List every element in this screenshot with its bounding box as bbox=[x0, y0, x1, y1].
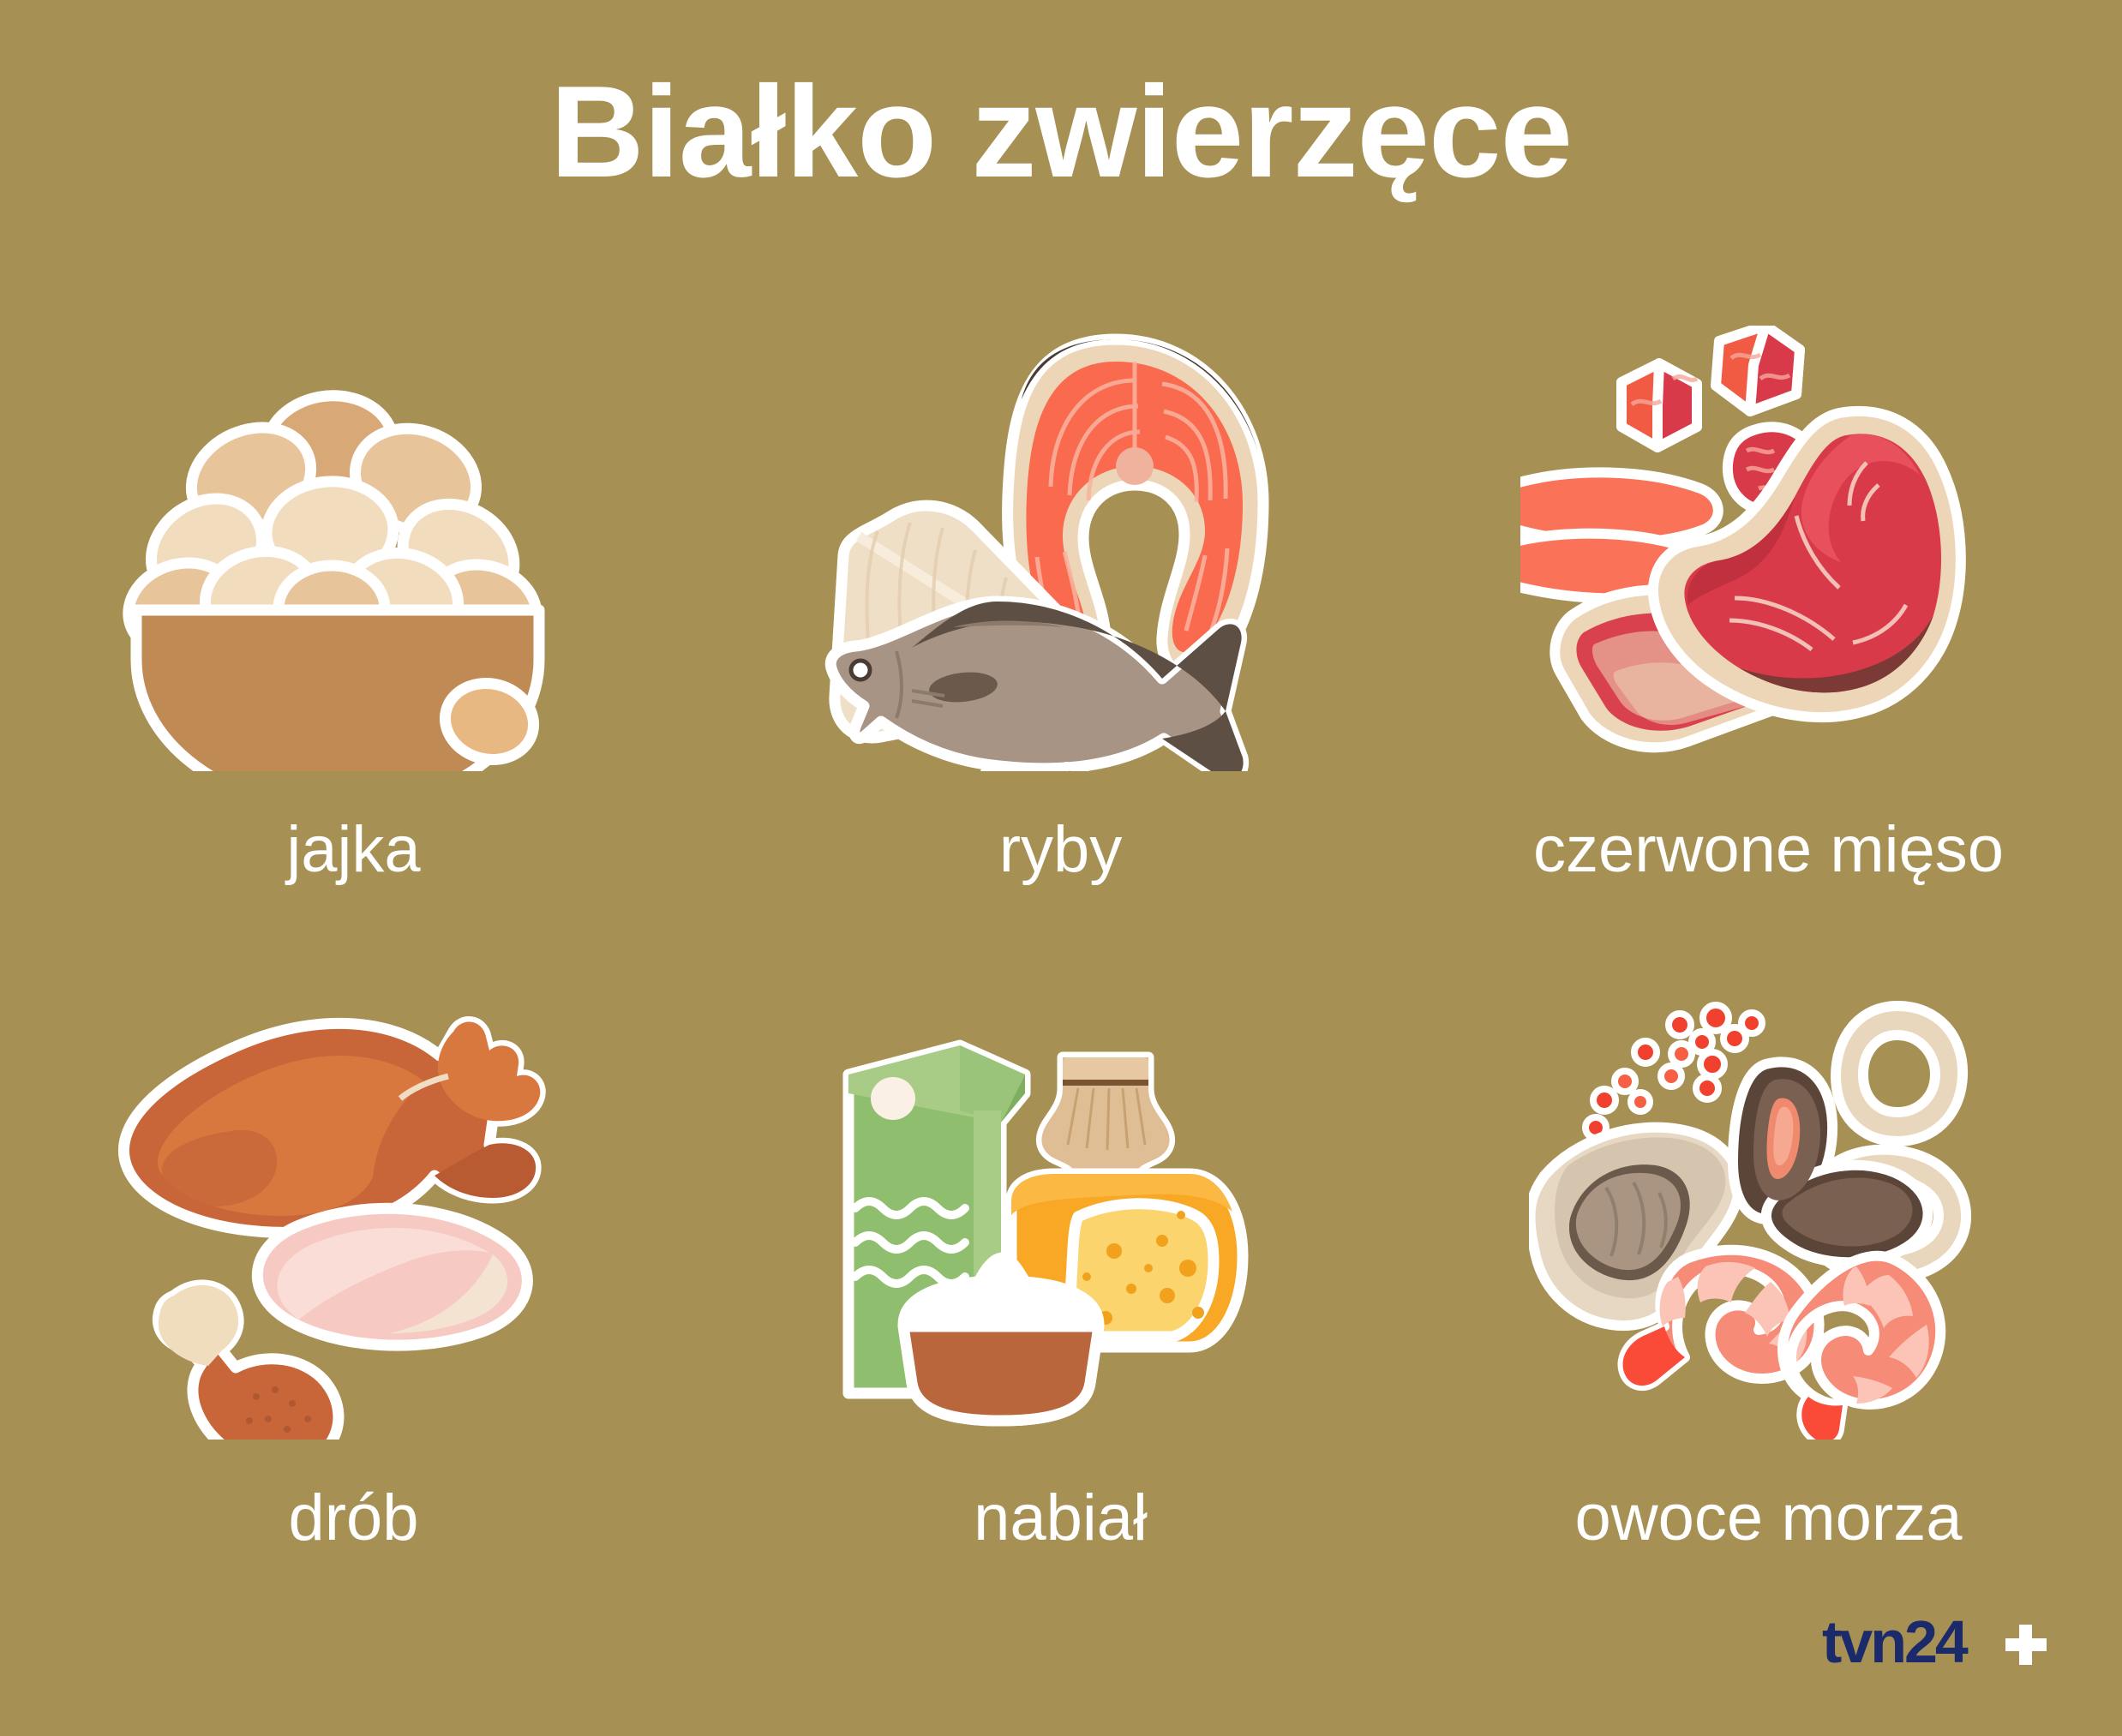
category-card-eggs[interactable]: jajka bbox=[0, 283, 707, 951]
logo-plus-icon bbox=[2005, 1625, 2047, 1665]
seafood-shrimp-mussel-icon bbox=[1415, 951, 2122, 1482]
category-card-seafood[interactable]: owoce morza bbox=[1415, 951, 2122, 1619]
category-card-dairy[interactable]: nabiał bbox=[707, 951, 1414, 1619]
tvn24-plus-logo[interactable]: tvn24 bbox=[1822, 1606, 2055, 1678]
fish-and-salmon-steak-icon bbox=[707, 283, 1414, 814]
roast-chicken-icon bbox=[0, 951, 707, 1482]
eggs-in-bowl-icon bbox=[0, 283, 707, 814]
category-card-poultry[interactable]: drób bbox=[0, 951, 707, 1619]
category-label-seafood: owoce morza bbox=[1415, 1482, 2122, 1554]
milk-cheese-dairy-icon bbox=[707, 951, 1414, 1482]
category-label-fish: ryby bbox=[707, 814, 1414, 886]
page-title: Białko zwierzęce bbox=[0, 67, 2122, 197]
red-meat-steak-icon bbox=[1415, 283, 2122, 814]
category-label-poultry: drób bbox=[0, 1482, 707, 1554]
infographic-canvas: Białko zwierzęce bbox=[0, 0, 2122, 1736]
category-card-red-meat[interactable]: czerwone mięso bbox=[1415, 283, 2122, 951]
food-category-grid: jajka bbox=[0, 283, 2122, 1619]
logo-text: tvn24 bbox=[1822, 1608, 1969, 1675]
category-card-fish[interactable]: ryby bbox=[707, 283, 1414, 951]
category-label-red-meat: czerwone mięso bbox=[1415, 814, 2122, 886]
category-label-eggs: jajka bbox=[0, 814, 707, 886]
category-label-dairy: nabiał bbox=[707, 1482, 1414, 1554]
